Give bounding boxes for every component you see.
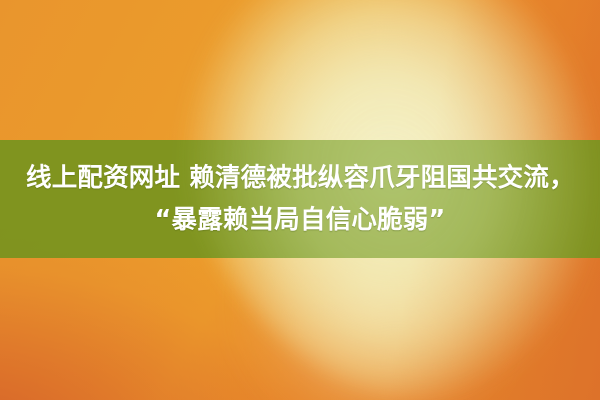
caption-band: 线上配资网址 赖清德被批纵容爪牙阻国共交流， “暴露赖当局自信心脆弱” bbox=[0, 140, 600, 258]
caption-line-2: “暴露赖当局自信心脆弱” bbox=[0, 199, 600, 241]
news-banner-image: 线上配资网址 赖清德被批纵容爪牙阻国共交流， “暴露赖当局自信心脆弱” bbox=[0, 0, 600, 400]
caption-line-1: 线上配资网址 赖清德被批纵容爪牙阻国共交流， bbox=[0, 157, 600, 199]
